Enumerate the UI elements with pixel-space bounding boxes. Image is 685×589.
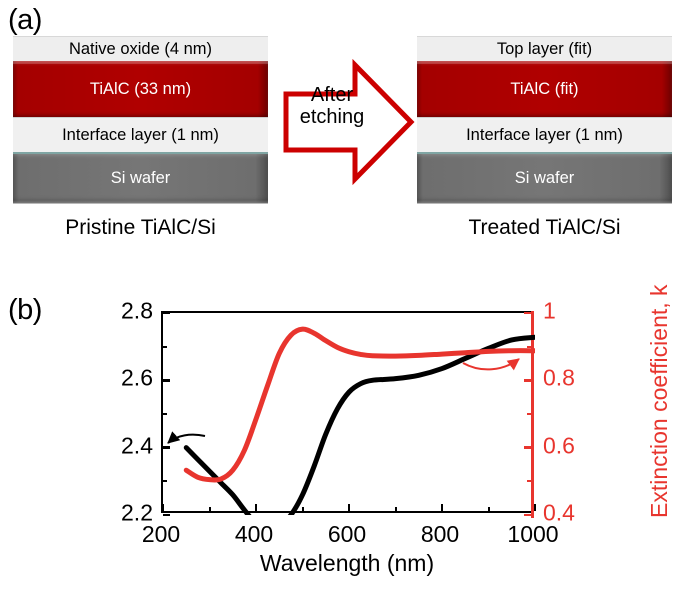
layer-interface-left-label: Interface layer (1 nm) <box>62 126 219 145</box>
y2-tick-minor <box>527 480 531 482</box>
y2-tick-minor <box>527 346 531 348</box>
y2-tick-major <box>524 514 531 517</box>
layer-interface-left: Interface layer (1 nm) <box>13 117 268 154</box>
x-tick-label: 600 <box>302 521 392 548</box>
panel-a-stack-diagram: (a) Native oxide (4 nm) TiAlC (33 nm) In… <box>0 0 685 262</box>
layer-tialc-left-label: TiAlC (33 nm) <box>90 80 191 99</box>
y2-tick-major <box>524 446 531 449</box>
y-tick-label: 2.8 <box>93 298 153 325</box>
x-tick-minor <box>302 507 304 511</box>
x-tick-label: 1000 <box>488 521 578 548</box>
panel-b-label: (b) <box>8 296 42 325</box>
y2-tick-label: 0.6 <box>543 432 603 459</box>
y-tick-minor <box>163 346 167 348</box>
after-etching-arrow: After etching <box>283 56 415 188</box>
y2-tick-label: 0.8 <box>543 365 603 392</box>
pristine-stack: Native oxide (4 nm) TiAlC (33 nm) Interf… <box>13 36 268 204</box>
y-tick-label: 2.6 <box>93 365 153 392</box>
pristine-stack-caption: Pristine TiAlC/Si <box>13 216 268 240</box>
y-tick-major <box>163 514 170 517</box>
arrow-label: After etching <box>283 84 381 129</box>
layer-native-oxide: Native oxide (4 nm) <box>13 36 268 61</box>
layer-si-wafer-right: Si wafer <box>417 154 672 204</box>
figure: (a) Native oxide (4 nm) TiAlC (33 nm) In… <box>0 0 685 589</box>
x-tick-minor <box>209 507 211 511</box>
layer-si-wafer-left: Si wafer <box>13 154 268 204</box>
x-tick-label: 400 <box>209 521 299 548</box>
layer-si-wafer-left-label: Si wafer <box>111 169 171 188</box>
x-tick-label: 200 <box>116 521 206 548</box>
layer-tialc-right-label: TiAlC (fit) <box>510 80 578 99</box>
curves-layer <box>163 313 535 515</box>
y2-tick-major <box>524 379 531 382</box>
arrow-label-line2: etching <box>283 106 381 128</box>
treated-stack: Top layer (fit) TiAlC (fit) Interface la… <box>417 36 672 204</box>
x-tick-major <box>534 504 537 511</box>
y2-tick-major <box>524 312 531 315</box>
y-tick-major <box>163 312 170 315</box>
y-tick-minor <box>163 413 167 415</box>
curve-extinction-coefficient <box>186 329 535 480</box>
x-tick-minor <box>395 507 397 511</box>
layer-interface-right: Interface layer (1 nm) <box>417 117 672 154</box>
right-axis-arrow-icon <box>463 359 519 369</box>
x-tick-minor <box>488 507 490 511</box>
x-tick-major <box>255 504 258 511</box>
curve-refractive-index <box>186 337 535 515</box>
x-tick-label: 800 <box>395 521 485 548</box>
x-tick-major <box>348 504 351 511</box>
y2-tick-minor <box>527 413 531 415</box>
y2-axis-title: Extinction coefficient, k <box>646 284 673 518</box>
x-tick-major <box>162 504 165 511</box>
layer-native-oxide-label: Native oxide (4 nm) <box>69 40 212 59</box>
x-tick-major <box>441 504 444 511</box>
y-tick-minor <box>163 480 167 482</box>
plot-area <box>161 311 533 513</box>
panel-a-label: (a) <box>8 6 42 35</box>
x-axis-title: Wavelength (nm) <box>161 550 533 577</box>
layer-tialc-right: TiAlC (fit) <box>417 61 672 117</box>
layer-top-layer: Top layer (fit) <box>417 36 672 61</box>
layer-top-layer-label: Top layer (fit) <box>497 40 592 59</box>
layer-tialc-left: TiAlC (33 nm) <box>13 61 268 117</box>
arrow-label-line1: After <box>283 84 381 106</box>
layer-interface-right-label: Interface layer (1 nm) <box>466 126 623 145</box>
left-axis-arrow-icon <box>168 435 205 443</box>
y-tick-label: 2.4 <box>93 432 153 459</box>
panel-b-optical-constants-chart: (b) Refractive index, n Extinction coeff… <box>0 262 685 589</box>
treated-stack-caption: Treated TiAlC/Si <box>417 216 672 240</box>
y-tick-major <box>163 446 170 449</box>
y2-tick-label: 1 <box>543 298 603 325</box>
layer-si-wafer-right-label: Si wafer <box>515 169 575 188</box>
y-tick-major <box>163 379 170 382</box>
